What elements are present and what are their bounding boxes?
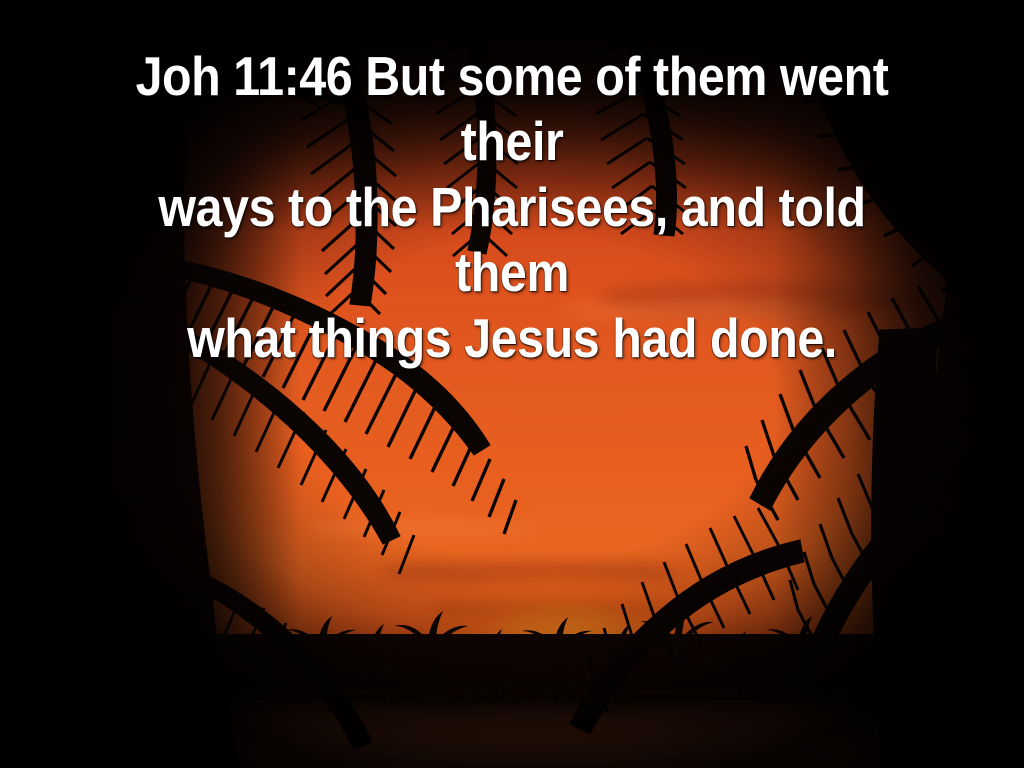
watermark-text: (c) www.eBiblePhotos.com (41, 683, 983, 709)
verse-text: Joh 11:46 But some of them went their wa… (61, 44, 962, 371)
verse-photo-scene: Joh 11:46 But some of them went their wa… (0, 0, 1024, 768)
